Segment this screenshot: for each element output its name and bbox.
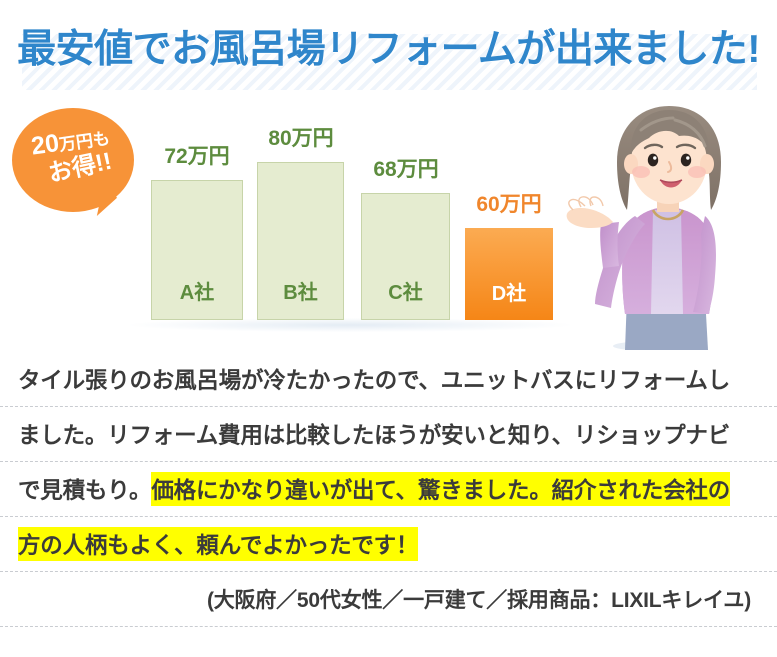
- bar-rect-b: B社: [257, 162, 344, 320]
- bar-group-b: 80万円 B社: [257, 122, 344, 320]
- bar-label-c: C社: [362, 276, 449, 305]
- bar-value-b: 80万円: [236, 122, 366, 152]
- testimonial-highlight-3: 価格にかなり違いが出て、驚きました。紹介された会社の: [151, 472, 730, 506]
- testimonial-line-1: タイル張りのお風呂場が冷たかったので、ユニットバスにリフォームし: [0, 352, 777, 407]
- page-root: 最安値でお風呂場リフォームが出来ました! 20万円も お得!! 72万円 A社 …: [0, 0, 777, 657]
- bar-label-a: A社: [152, 276, 242, 305]
- bar-value-d: 60万円: [444, 188, 574, 218]
- testimonial-credit-line: (大阪府／50代女性／一戸建て／採用商品：LIXILキレイユ): [0, 572, 777, 627]
- testimonial-text-3: で見積もり。: [18, 473, 151, 505]
- chart-floor-shadow: [130, 318, 570, 332]
- bar-value-c: 68万円: [341, 153, 471, 183]
- testimonial-line-2: ました。リフォーム費用は比較したほうが安いと知り、リショップナビ: [0, 407, 777, 462]
- price-comparison-chart: 20万円も お得!! 72万円 A社 80万円 B社 68万円 C社: [0, 100, 777, 350]
- bar-rect-c: C社: [361, 193, 450, 320]
- savings-badge-text: 20万円も お得!!: [5, 100, 140, 220]
- page-title: 最安値でお風呂場リフォームが出来ました!: [0, 20, 777, 80]
- bar-rect-a: A社: [151, 180, 243, 320]
- elderly-woman-illustration: [565, 100, 777, 350]
- savings-amount: 20: [29, 129, 60, 161]
- testimonial-highlight-4: 方の人柄もよく、頼んでよかったです！: [18, 527, 418, 561]
- testimonial-line-4: 方の人柄もよく、頼んでよかったです！: [0, 517, 777, 572]
- bar-label-d: D社: [465, 277, 553, 306]
- testimonial-text-1: タイル張りのお風呂場が冷たかったので、ユニットバスにリフォームし: [18, 363, 730, 395]
- testimonial-text-2: ました。リフォーム費用は比較したほうが安いと知り、リショップナビ: [18, 418, 730, 450]
- bar-label-b: B社: [258, 276, 343, 305]
- bar-rect-d: D社: [465, 228, 553, 320]
- bar-group-d: 60万円 D社: [465, 188, 553, 320]
- testimonial-line-3: で見積もり。価格にかなり違いが出て、驚きました。紹介された会社の: [0, 462, 777, 517]
- bar-group-c: 68万円 C社: [361, 153, 450, 320]
- bar-group-a: 72万円 A社: [151, 140, 243, 320]
- testimonial-block: タイル張りのお風呂場が冷たかったので、ユニットバスにリフォームし ました。リフォ…: [0, 352, 777, 657]
- savings-badge: 20万円も お得!!: [12, 108, 134, 212]
- testimonial-credit: (大阪府／50代女性／一戸建て／採用商品：LIXILキレイユ): [207, 584, 751, 614]
- page-title-banner: 最安値でお風呂場リフォームが出来ました!: [0, 20, 777, 92]
